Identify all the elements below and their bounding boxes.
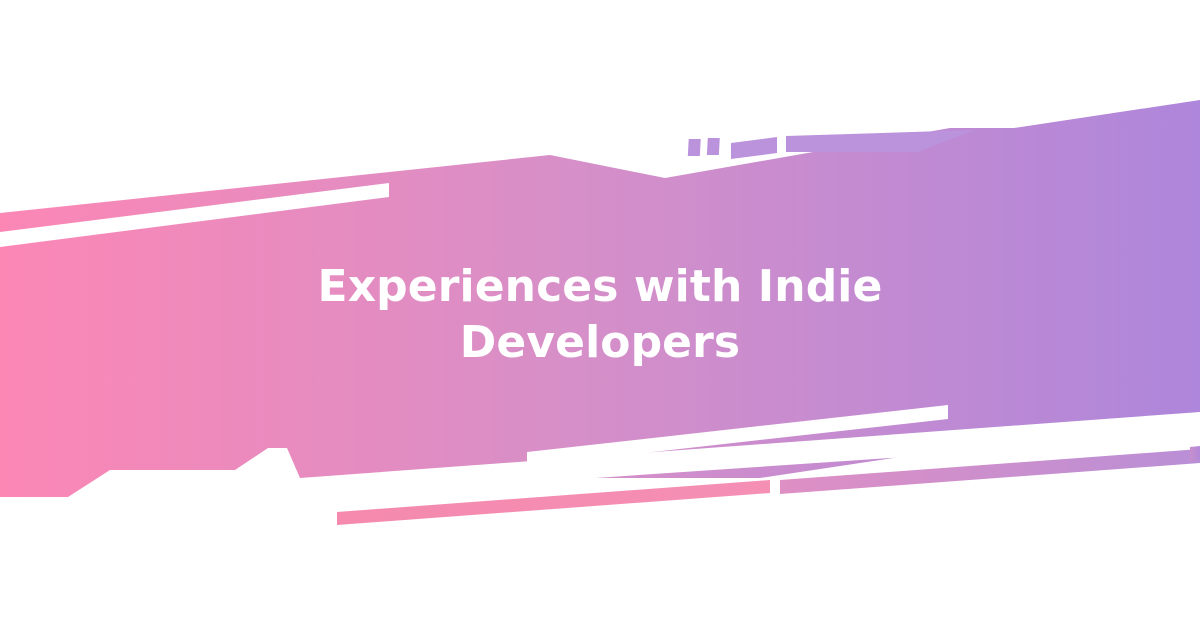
- dash-small-1: [688, 139, 701, 156]
- banner-background-artwork: [0, 0, 1200, 630]
- purple-bar-far-right: [1190, 446, 1200, 461]
- banner-graphic: Experiences with Indie Developers: [0, 0, 1200, 630]
- dash-small-2: [707, 138, 720, 155]
- dash-medium: [731, 137, 777, 159]
